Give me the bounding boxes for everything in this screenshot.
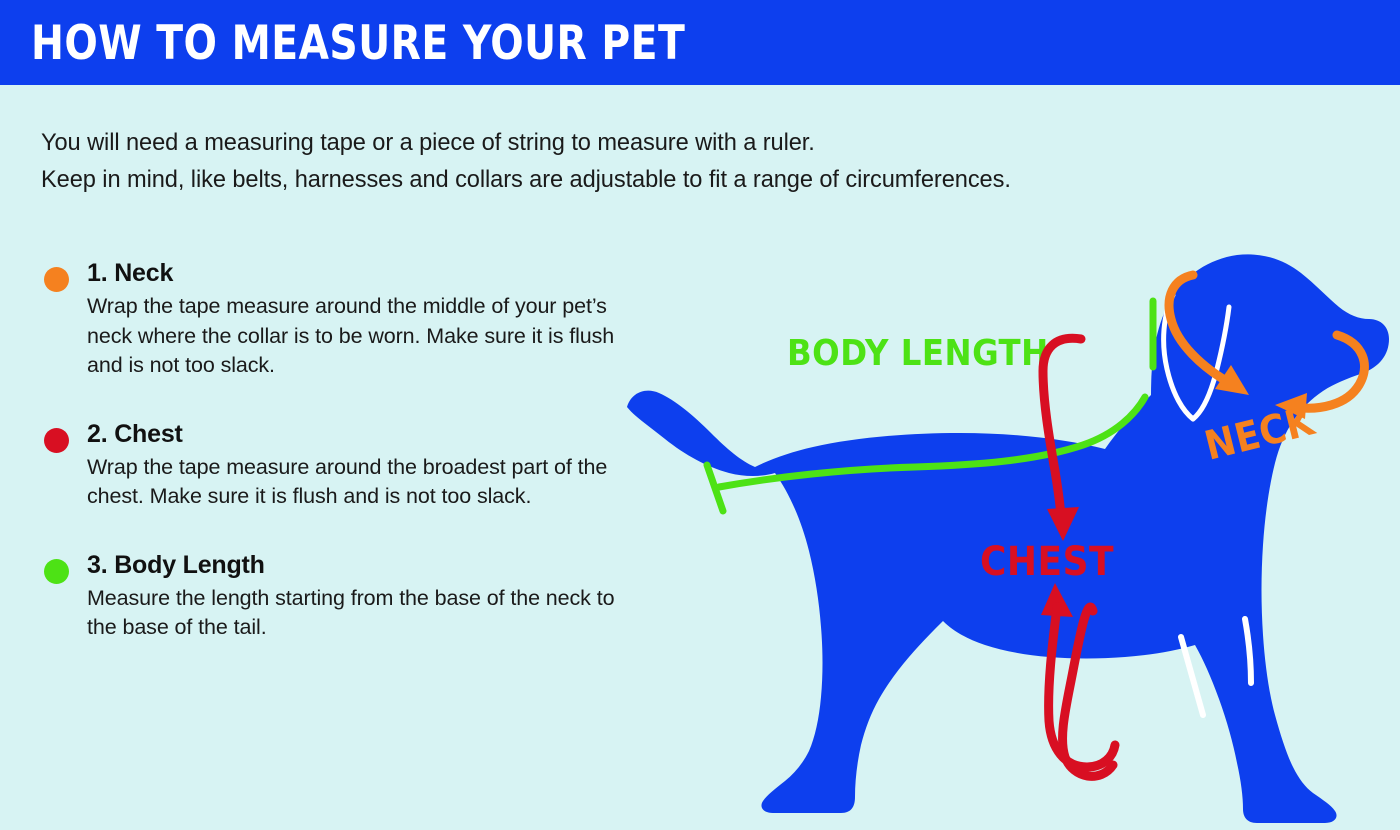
step-body-body-length: Measure the length starting from the bas… bbox=[87, 584, 627, 643]
step-item-neck: 1. Neck Wrap the tape measure around the… bbox=[41, 258, 641, 381]
step-title-neck: 1. Neck bbox=[87, 258, 641, 288]
chest-label: CHEST bbox=[980, 539, 1114, 585]
measurement-steps-list: 1. Neck Wrap the tape measure around the… bbox=[41, 258, 641, 643]
step-body-neck: Wrap the tape measure around the middle … bbox=[87, 292, 627, 381]
step-body-chest: Wrap the tape measure around the broades… bbox=[87, 453, 627, 512]
step-title-chest: 2. Chest bbox=[87, 419, 641, 449]
body-length-label: BODY LENGTH bbox=[787, 333, 1049, 374]
chest-measure-group: CHEST bbox=[980, 338, 1115, 776]
step-item-body-length: 3. Body Length Measure the length starti… bbox=[41, 550, 641, 643]
bullet-body-length-icon bbox=[44, 559, 69, 584]
bullet-neck-icon bbox=[44, 267, 69, 292]
step-item-chest: 2. Chest Wrap the tape measure around th… bbox=[41, 419, 641, 512]
intro-line-2: Keep in mind, like belts, harnesses and … bbox=[41, 161, 1247, 198]
intro-line-1: You will need a measuring tape or a piec… bbox=[41, 124, 1247, 161]
bullet-chest-icon bbox=[44, 428, 69, 453]
intro-text: You will need a measuring tape or a piec… bbox=[41, 124, 1291, 198]
dog-measurement-diagram: BODY LENGTH NECK CHEST bbox=[615, 215, 1400, 830]
page-title: HOW TO MEASURE YOUR PET bbox=[31, 18, 685, 70]
step-title-body-length: 3. Body Length bbox=[87, 550, 641, 580]
